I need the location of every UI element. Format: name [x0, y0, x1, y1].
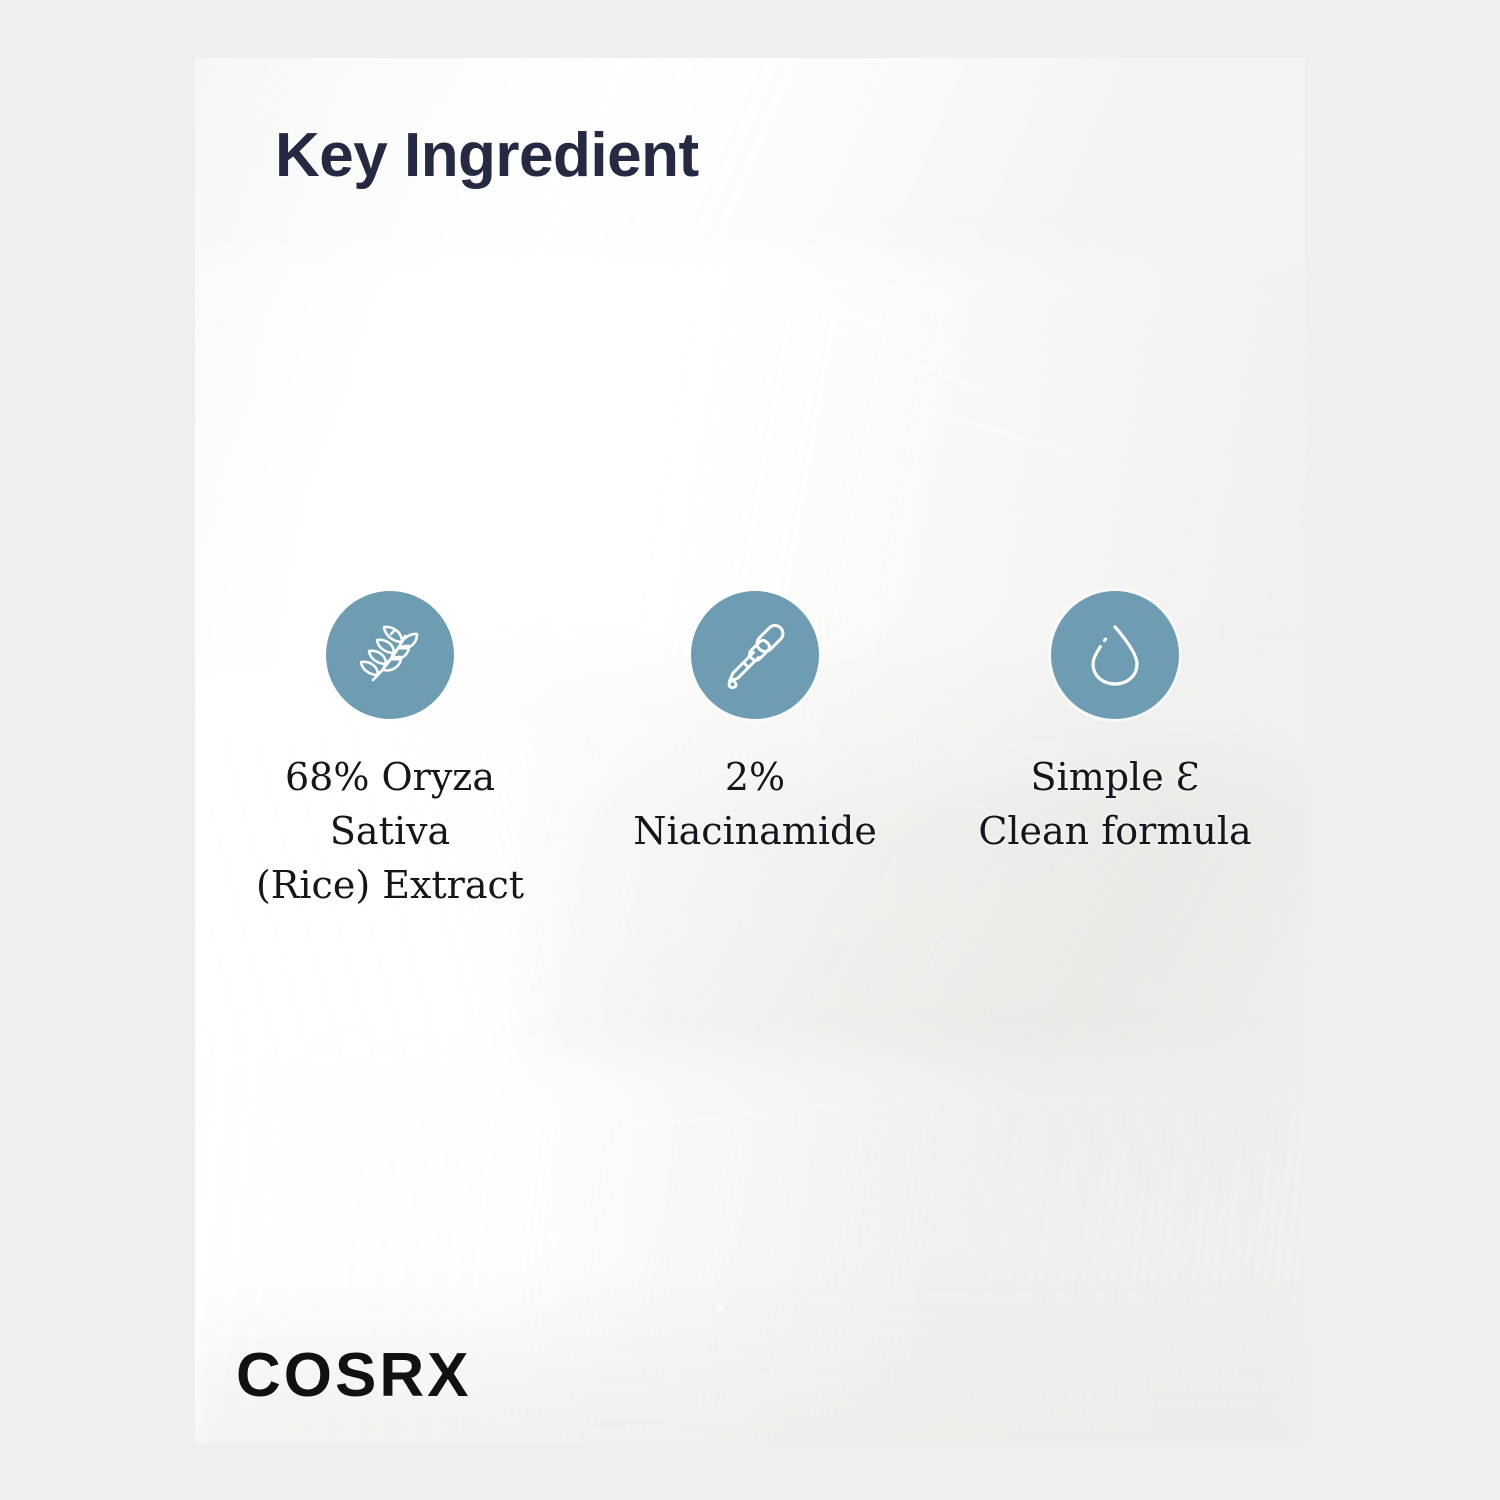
brand-logo: COSRX — [236, 1340, 471, 1411]
panel-content: Key Ingredient — [195, 58, 1305, 1443]
feature-list: 68% Oryza Sativa (Rice) Extract — [195, 591, 1305, 913]
product-texture-panel: Key Ingredient — [195, 58, 1305, 1443]
feature-item-clean-formula: Simple Ɛ Clean formula — [935, 591, 1295, 913]
image-frame: Key Ingredient — [0, 0, 1500, 1500]
feature-label: 68% Oryza Sativa (Rice) Extract — [256, 751, 524, 913]
page-title: Key Ingredient — [275, 120, 699, 191]
feature-icon-badge — [691, 591, 819, 719]
dropper-pipette-icon — [717, 617, 793, 693]
feature-label: Simple Ɛ Clean formula — [978, 751, 1251, 859]
feature-item-niacinamide: 2% Niacinamide — [575, 591, 935, 913]
rice-leaf-branch-icon — [353, 618, 427, 692]
feature-icon-badge — [1051, 591, 1179, 719]
feature-label: 2% Niacinamide — [633, 751, 877, 859]
feature-item-rice-extract: 68% Oryza Sativa (Rice) Extract — [210, 591, 570, 913]
water-droplet-icon — [1083, 621, 1147, 689]
feature-icon-badge — [326, 591, 454, 719]
